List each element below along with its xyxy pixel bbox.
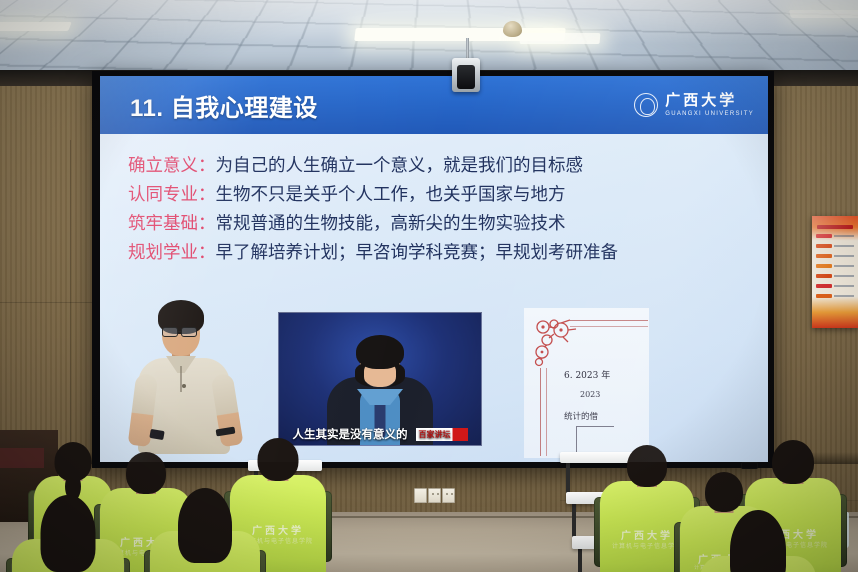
wall-poster — [812, 216, 858, 328]
slide-bullet-3: 筑牢基础：常规普通的生物技能，高新尖的生物实验技术 — [128, 210, 728, 239]
student-head — [730, 510, 786, 572]
bullet-colon: ： — [198, 156, 216, 176]
slide-title: 11. 自我心理建设 — [130, 88, 318, 123]
bullet-colon: ： — [198, 214, 216, 234]
university-name-en: GUANGXI UNIVERSITY — [665, 111, 754, 117]
document-rule — [570, 326, 648, 327]
document-line-2: 2023 — [580, 390, 600, 399]
guangxi-university-seal-icon — [634, 93, 658, 117]
panel-light-1 — [0, 22, 72, 31]
student-head — [705, 472, 743, 512]
projector-lens-icon — [457, 65, 475, 89]
smoke-detector-icon — [503, 21, 522, 37]
bullet-text: 常规普通的生物技能，高新尖的生物实验技术 — [216, 214, 566, 234]
student-shirt-subprint: 计算机与电子信息学院 — [612, 541, 682, 550]
bullet-text: 生物不只是关乎个人工作，也关乎国家与地方 — [216, 185, 566, 205]
slide-bullet-1: 确立意义：为自己的人生确立一个意义，就是我们的目标感 — [128, 152, 728, 181]
red-corner-ornament-icon — [530, 316, 580, 371]
lecture-hall-scene: 11. 自我心理建设 广西大学 GUANGXI UNIVERSITY 确立意义：… — [0, 0, 858, 572]
slide-bullet-4: 规划学业：早了解培养计划；早咨询学科竞赛；早规划考研准备 — [128, 239, 728, 268]
document-rule — [570, 320, 648, 321]
poster-glare — [812, 216, 858, 328]
university-name-cn: 广西大学 — [665, 93, 754, 109]
presenter-button — [182, 384, 186, 388]
student-head — [41, 495, 96, 572]
glasses-bridge — [178, 331, 181, 332]
student-head — [772, 440, 814, 484]
glasses-icon — [181, 327, 197, 337]
desk-leg — [578, 549, 582, 572]
bullet-text: 早了解培养计划；早咨询学科竞赛；早规划考研准备 — [216, 243, 619, 263]
glasses-icon — [741, 462, 758, 469]
student-head — [178, 488, 232, 563]
bullet-colon: ： — [198, 185, 216, 205]
audience: 广西大学计算机与电子信息学院广西大学计算机与电子信息学院广西大学计算机与电子信息… — [0, 400, 858, 572]
audience-student: 广西大学计算机与电子信息学院 — [700, 510, 816, 572]
student-head — [627, 445, 667, 487]
ceiling — [0, 0, 858, 78]
document-line-1: 6. 2023 年 — [564, 368, 610, 381]
audience-student: 广西大学计算机与电子信息学院 — [150, 488, 260, 572]
student-shirt-print: 广西大学 — [621, 527, 673, 542]
presenter-placket — [180, 366, 182, 392]
student-head — [258, 438, 299, 481]
bullet-colon: ： — [198, 243, 216, 263]
bullet-label: 认同专业 — [128, 185, 198, 205]
university-logo: 广西大学 GUANGXI UNIVERSITY — [634, 93, 754, 117]
bullet-label: 确立意义 — [128, 156, 198, 176]
panel-light-4 — [789, 10, 858, 18]
slide-bullet-2: 认同专业：生物不只是关乎个人工作，也关乎国家与地方 — [128, 181, 728, 210]
audience-student: 广西大学计算机与电子信息学院 — [12, 495, 124, 572]
glasses-icon — [162, 327, 178, 337]
bullet-label: 筑牢基础 — [128, 214, 198, 234]
video-subject-hair — [356, 335, 404, 369]
bullet-text: 为自己的人生确立一个意义，就是我们的目标感 — [216, 156, 584, 176]
bullet-label: 规划学业 — [128, 243, 198, 263]
slide-banner: 11. 自我心理建设 广西大学 GUANGXI UNIVERSITY — [100, 76, 768, 134]
panel-light-3 — [520, 33, 601, 44]
slide-bullet-list: 确立意义：为自己的人生确立一个意义，就是我们的目标感认同专业：生物不只是关乎个人… — [128, 152, 728, 268]
